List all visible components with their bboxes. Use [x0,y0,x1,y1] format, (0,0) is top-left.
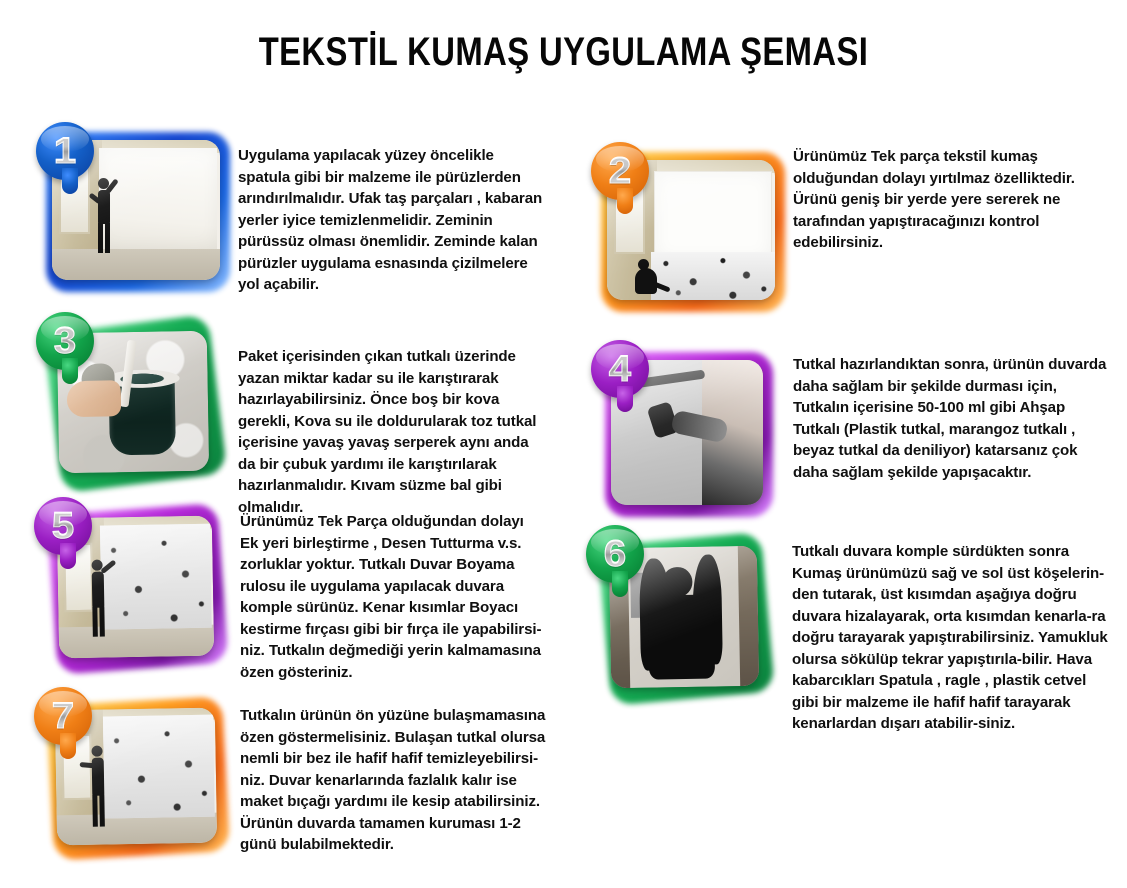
step-4-figure: 4 [585,338,785,513]
person-torso-5 [92,572,105,608]
step-4-text: Tutkal hazırlandıktan sonra, ürünün duva… [793,354,1111,483]
step-number-6: 6 [604,536,626,573]
step-number-5: 5 [52,508,74,545]
silhouette-body [648,594,715,679]
step-number-1: 1 [54,133,76,170]
step-5-figure: 5 [30,495,230,670]
patterned-wall-5 [100,524,212,629]
step-number-4: 4 [609,351,631,388]
person-torso [98,190,110,224]
person-leg-right-5 [99,607,105,637]
step-6-text: Tutkalı duvara komple sürdükten sonra Ku… [792,541,1114,735]
step-7-figure: 7 [30,685,230,860]
person-leg-left-7 [92,795,98,827]
step-badge-3: 3 [36,312,94,370]
back-wall [99,148,217,249]
person-leg-left [98,223,103,253]
person-leg-right [105,223,110,253]
step-3-figure: 3 [28,310,228,485]
step-badge-2: 2 [591,142,649,200]
fabric-on-floor [651,252,775,300]
person-leg-left-5 [92,607,98,637]
hand [67,380,122,417]
infographic-page: TEKSTİL KUMAŞ UYGULAMA ŞEMASI [0,0,1127,888]
step-badge-1: 1 [36,122,94,180]
step-badge-7: 7 [34,687,92,745]
floor-5 [59,625,215,658]
step-number-3: 3 [54,323,76,360]
page-title: TEKSTİL KUMAŞ UYGULAMA ŞEMASI [101,30,1025,75]
step-6-figure: 6 [580,525,780,700]
person-leg-right-7 [99,795,105,827]
step-3-text: Paket içerisinden çıkan tutkalı üzerinde… [238,346,548,518]
person-crouching-head [638,259,649,270]
step-number-2: 2 [609,153,631,190]
step-5-text: Ürünümüz Tek Parça olduğundan dolayı Ek … [240,511,545,683]
silhouette-head [662,566,692,597]
step-1-text: Uygulama yapılacak yüzey öncelikle spatu… [238,145,543,296]
step-2-figure: 2 [583,138,783,313]
step-badge-6: 6 [586,525,644,583]
back-wall-2 [654,171,772,260]
patterned-wall-7 [103,714,215,819]
edge-texture-right [738,546,760,686]
step-badge-5: 5 [34,497,92,555]
floor [52,249,220,280]
step-2-text: Ürünümüz Tek parça tekstil kumaş olduğun… [793,146,1103,254]
step-7-text: Tutkalın ürünün ön yüzüne bulaşmamasına … [240,705,555,856]
step-number-7: 7 [52,698,74,735]
step-1-figure: 1 [28,118,228,293]
step-badge-4: 4 [591,340,649,398]
